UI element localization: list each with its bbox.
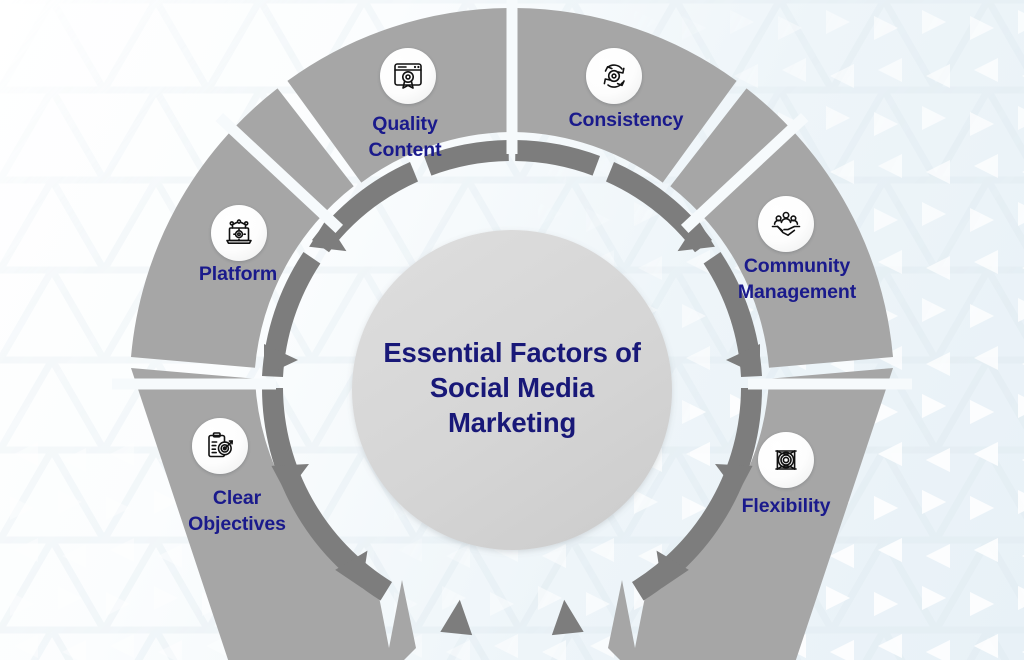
quality-content-icon-badge[interactable] (380, 48, 436, 104)
segment-label-consistency: Consistency (569, 108, 684, 134)
consistency-icon-badge[interactable] (586, 48, 642, 104)
infographic-stage: Quality Content Consistency Platform Com… (0, 0, 1024, 660)
segment-wheel-diagram (0, 0, 1024, 660)
clipboard-target-dart-icon (203, 429, 237, 463)
segment-label-platform: Platform (199, 262, 277, 288)
flexibility-icon-badge[interactable] (758, 432, 814, 488)
segment-label-quality-content: Quality Content (369, 112, 442, 163)
center-title: Essential Factors of Social Media Market… (347, 335, 677, 441)
laptop-gear-network-icon (222, 216, 256, 250)
platform-icon-badge[interactable] (211, 205, 267, 261)
community-management-icon-badge[interactable] (758, 196, 814, 252)
segment-label-flexibility: Flexibility (742, 494, 831, 520)
people-handshake-icon (769, 207, 803, 241)
circular-arrows-refresh-icon (597, 59, 631, 93)
browser-award-ribbon-icon (391, 59, 425, 93)
clear-objectives-icon-badge[interactable] (192, 418, 248, 474)
flexible-spiral-stretch-icon (769, 443, 803, 477)
segment-label-clear-objectives: Clear Objectives (188, 486, 286, 537)
segment-label-community-management: Community Management (738, 254, 856, 305)
